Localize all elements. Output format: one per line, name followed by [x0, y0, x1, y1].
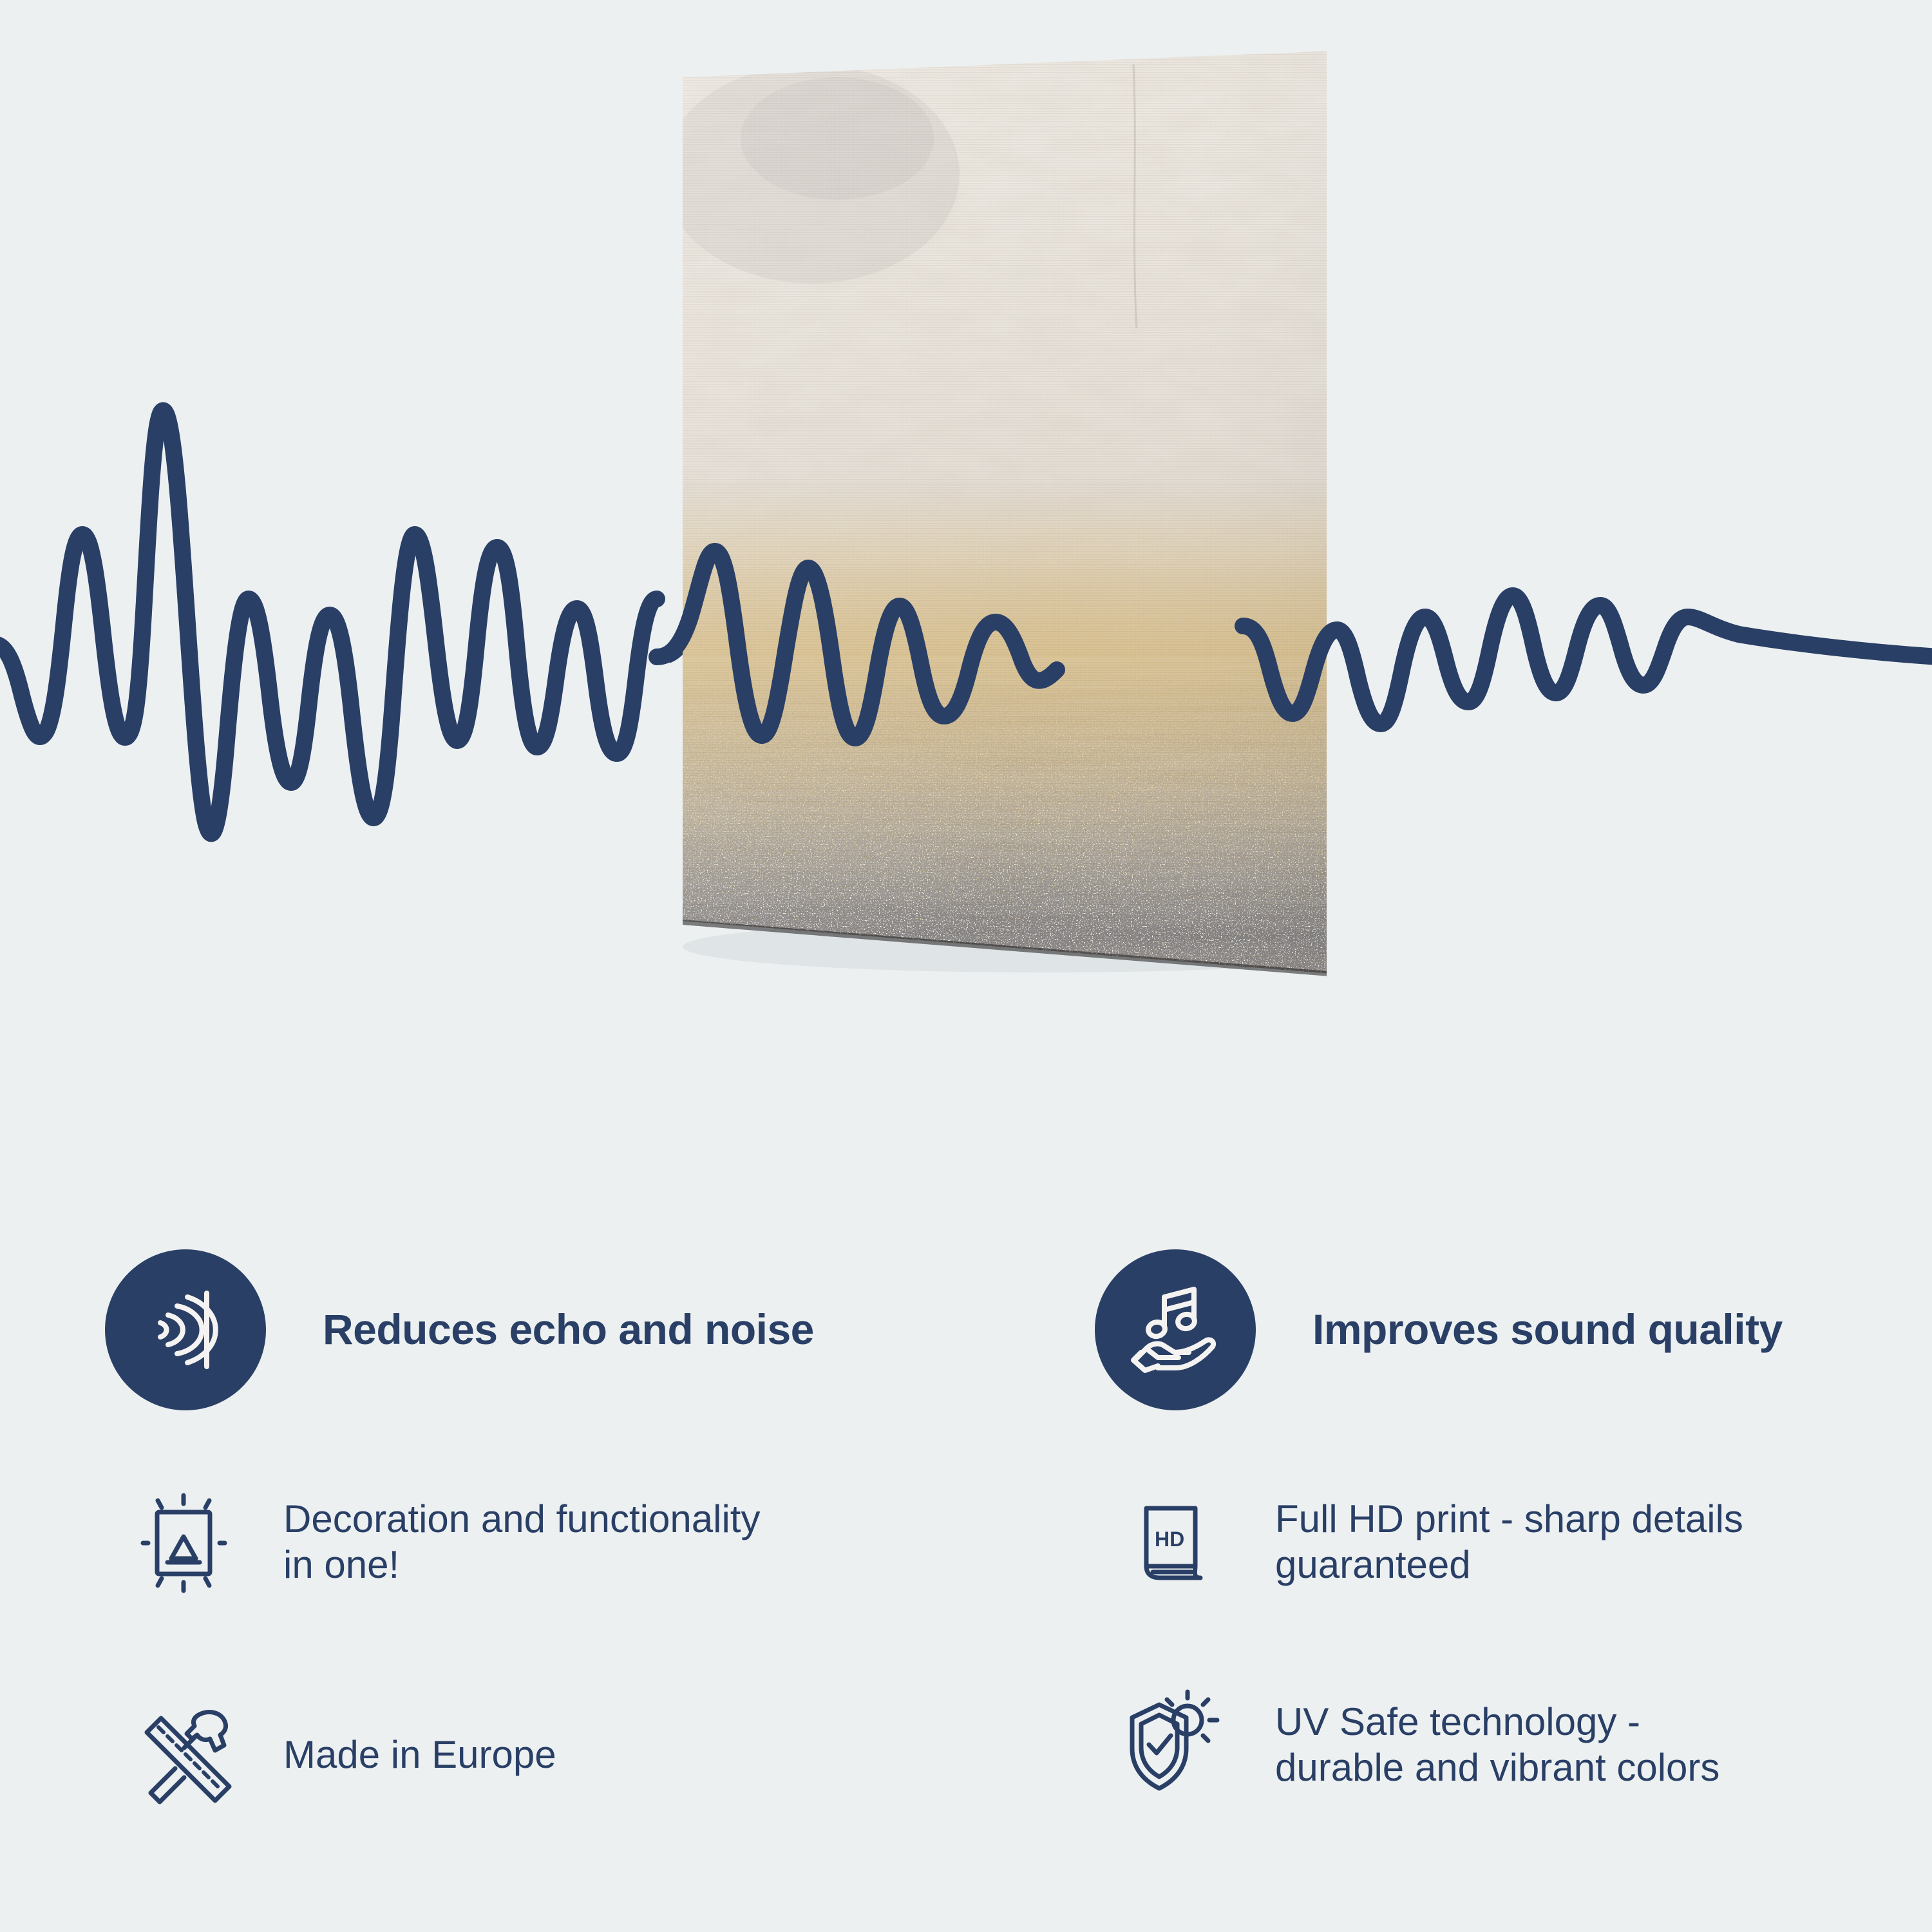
- hd-print-icon: HD: [1119, 1486, 1232, 1599]
- infographic-stage: Reduces echo and noise: [0, 0, 1932, 1932]
- feature-label-line2: guaranteed: [1275, 1542, 1743, 1588]
- feature-label-line1: Decoration and functionality: [283, 1497, 760, 1542]
- feature-label: UV Safe technology - durable and vibrant…: [1275, 1700, 1719, 1791]
- feature-icon-wrap: [122, 1481, 245, 1604]
- feature-decoration[interactable]: Decoration and functionality in one!: [122, 1481, 760, 1604]
- canvas-artwork: [644, 26, 1327, 1288]
- feature-label: Decoration and functionality in one!: [283, 1497, 760, 1588]
- feature-label-line1: UV Safe technology -: [1275, 1700, 1719, 1745]
- uv-shield-sun-icon: [1119, 1689, 1232, 1802]
- feature-label: Reduces echo and noise: [323, 1307, 814, 1352]
- feature-label: Made in Europe: [283, 1732, 556, 1778]
- music-note-in-hand-icon: [1127, 1282, 1224, 1378]
- feature-label-line2: durable and vibrant colors: [1275, 1745, 1719, 1791]
- sound-waves-icon: [137, 1282, 234, 1378]
- badge-circle: [105, 1249, 266, 1410]
- hd-badge-text: HD: [1155, 1528, 1184, 1551]
- waveform-right-segment: [1243, 596, 1932, 724]
- feature-label-line2: in one!: [283, 1542, 760, 1588]
- feature-label-line1: Made in Europe: [283, 1732, 556, 1778]
- feature-icon-wrap: [1095, 1249, 1256, 1410]
- feature-icon-wrap: [105, 1249, 266, 1410]
- feature-reduces-echo[interactable]: Reduces echo and noise: [105, 1249, 814, 1410]
- feature-uv-safe[interactable]: UV Safe technology - durable and vibrant…: [1114, 1684, 1719, 1806]
- feature-made-in-europe[interactable]: Made in Europe: [122, 1694, 556, 1816]
- framed-picture-shine-icon: [128, 1486, 240, 1599]
- badge-circle: [1095, 1249, 1256, 1410]
- feature-icon-wrap: HD: [1114, 1481, 1236, 1604]
- feature-improves-sound[interactable]: Improves sound quality: [1095, 1249, 1783, 1410]
- feature-hd-print[interactable]: HD Full HD print - sharp details guarant…: [1114, 1481, 1743, 1604]
- waveform-left-segment: [0, 410, 657, 833]
- feature-icon-wrap: [1114, 1684, 1236, 1806]
- feature-label-line1: Full HD print - sharp details: [1275, 1497, 1743, 1542]
- feature-label: Improves sound quality: [1312, 1307, 1783, 1352]
- feature-icon-wrap: [122, 1694, 245, 1816]
- ruler-and-hammer-icon: [128, 1699, 240, 1812]
- feature-list: Reduces echo and noise: [0, 1224, 1932, 1932]
- feature-label: Full HD print - sharp details guaranteed: [1275, 1497, 1743, 1588]
